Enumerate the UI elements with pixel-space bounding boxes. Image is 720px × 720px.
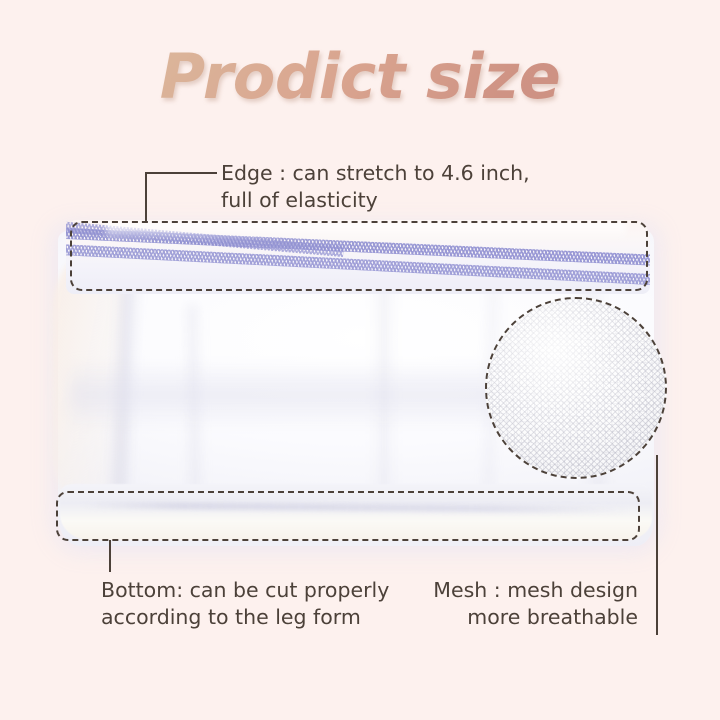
bottom-leader-line — [109, 540, 111, 572]
mesh-highlight — [487, 299, 665, 477]
callout-mesh-text: Mesh : mesh design more breathable — [418, 577, 638, 631]
mesh-leader-line — [656, 455, 658, 635]
edge-leader-line-vertical — [145, 172, 147, 223]
elastic-edge-highlight-box — [70, 221, 648, 291]
mesh-zoom-detail — [485, 297, 667, 479]
page-title: Prodict size — [0, 46, 720, 108]
edge-leader-line-horizontal — [145, 172, 217, 174]
bottom-hem-highlight-box — [56, 491, 640, 541]
callout-bottom-text: Bottom: can be cut properly according to… — [101, 577, 389, 631]
infographic-canvas: Prodict size Edge : can stretch to 4.6 i… — [0, 0, 720, 720]
callout-edge-text: Edge : can stretch to 4.6 inch, full of … — [221, 160, 530, 214]
